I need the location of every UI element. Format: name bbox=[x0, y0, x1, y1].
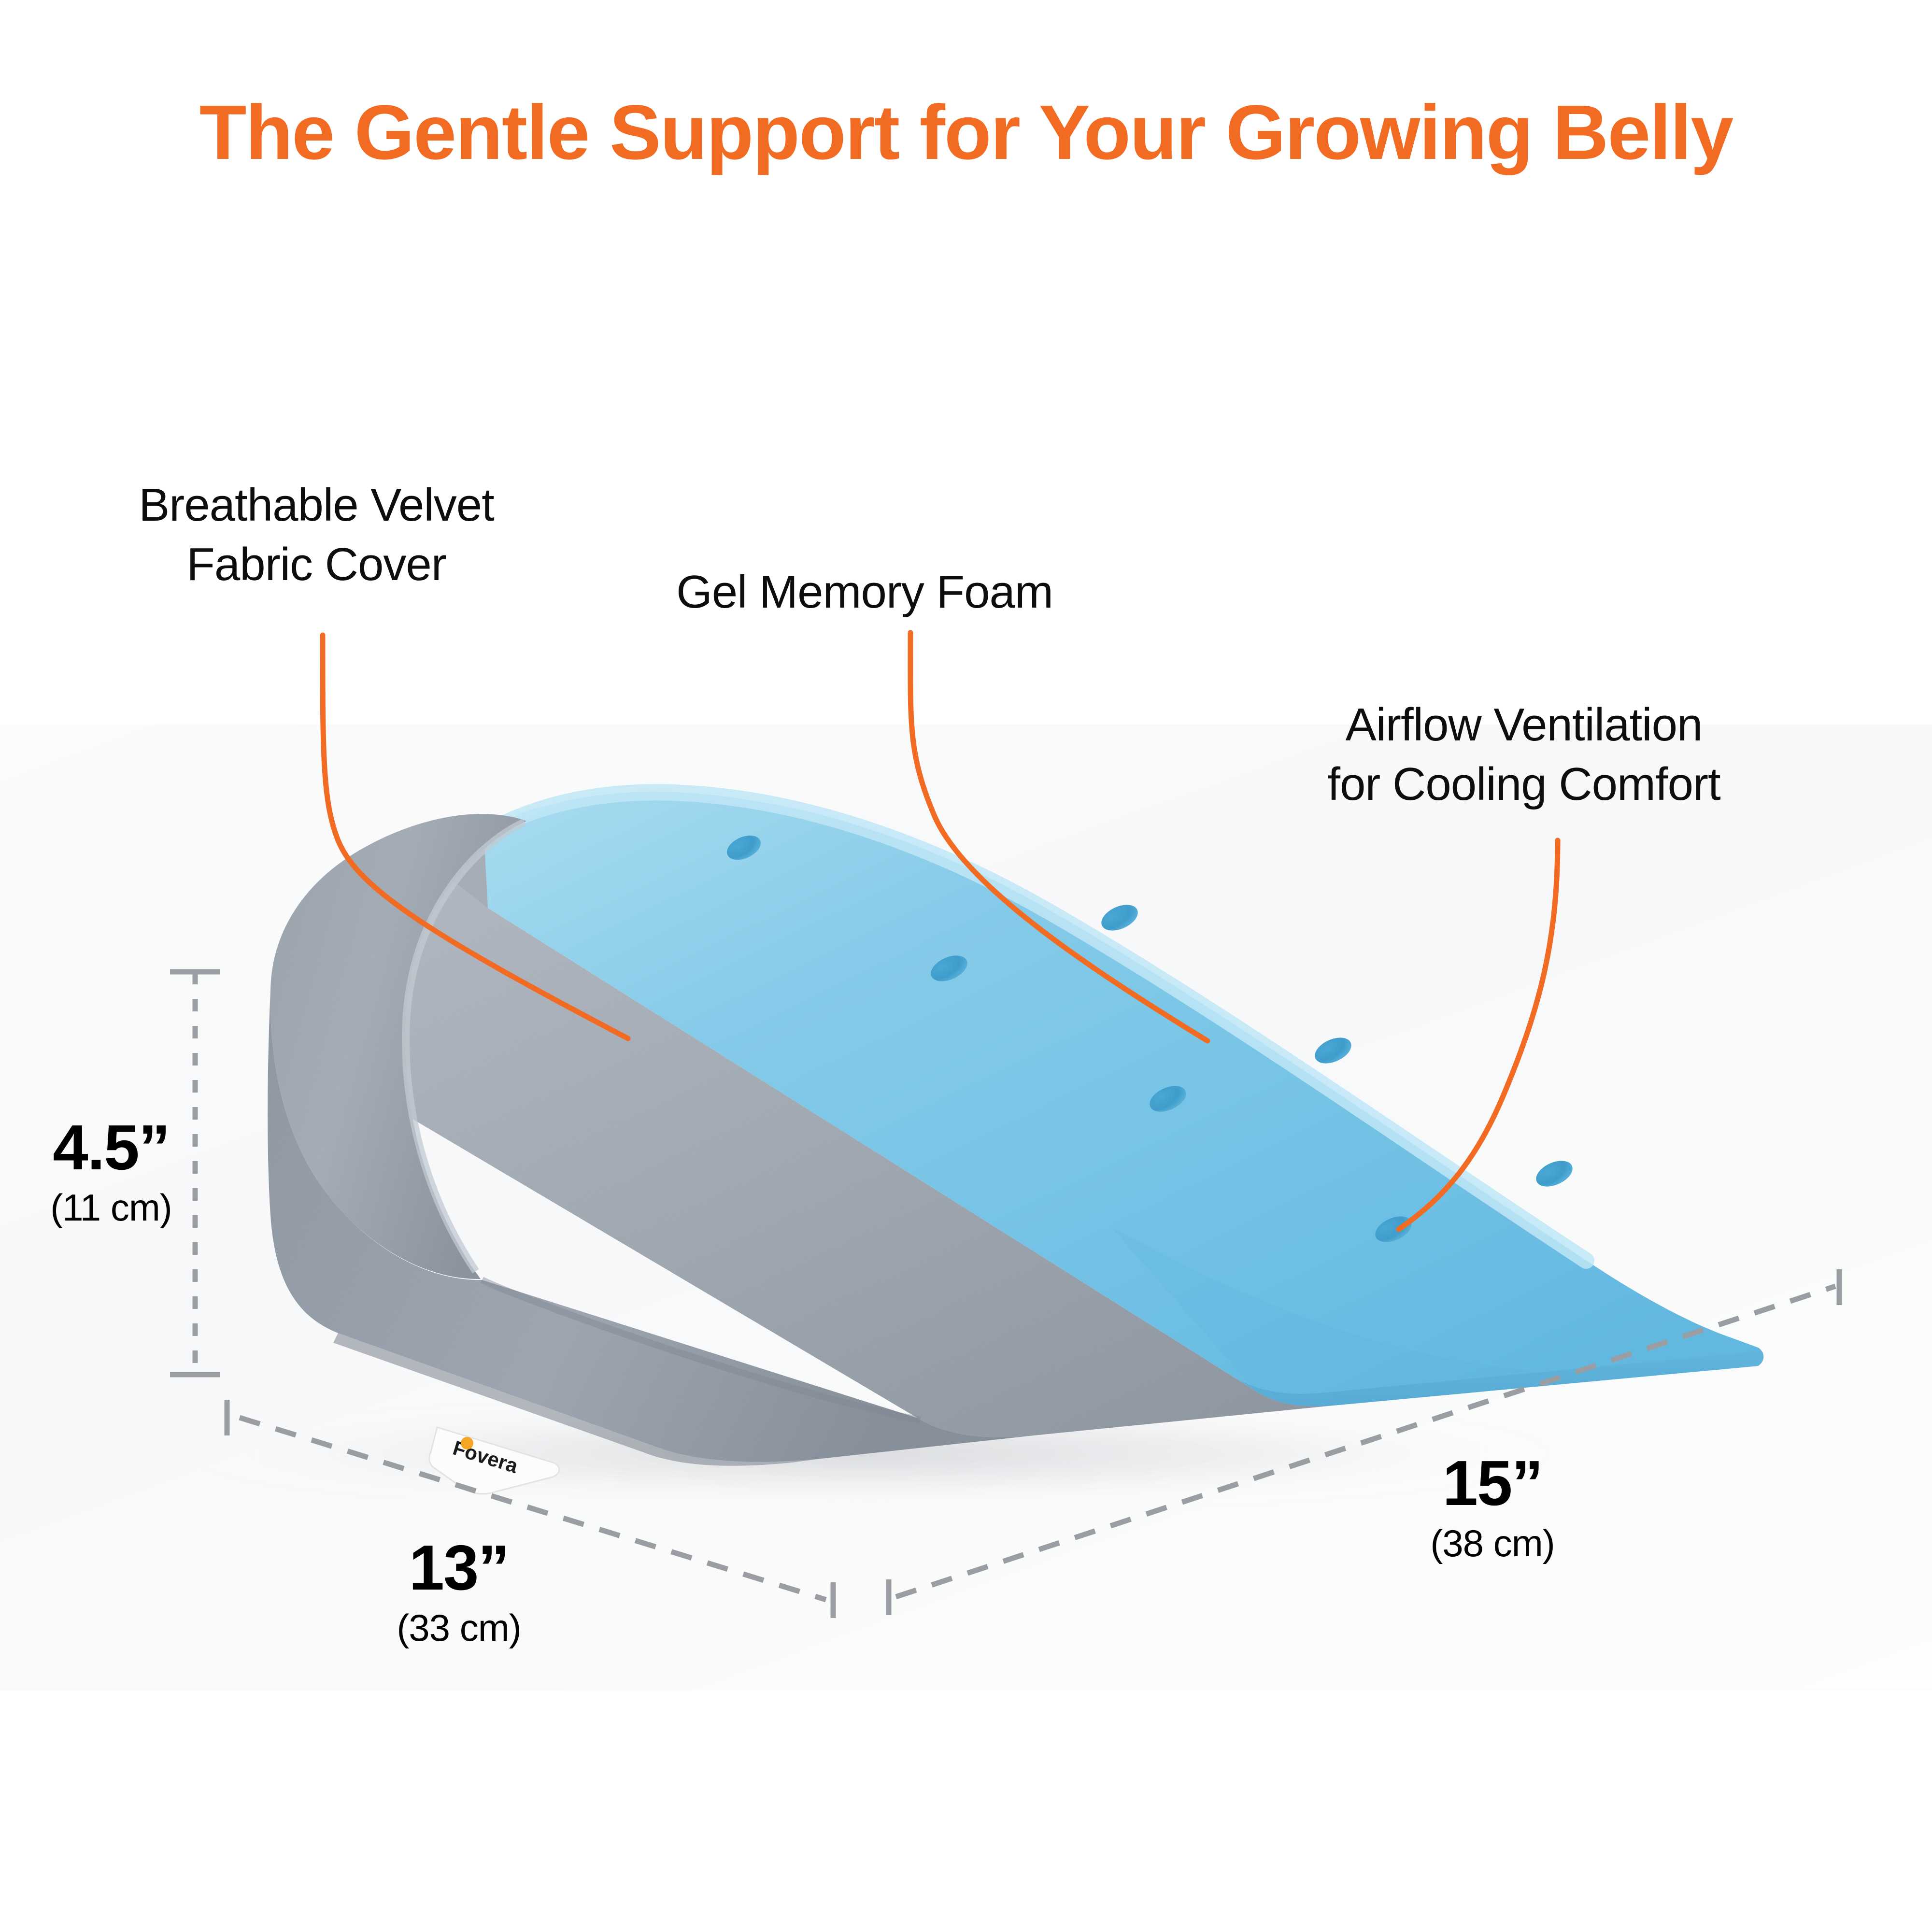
callout-airflow-line1: Airflow Ventilation bbox=[1222, 696, 1826, 755]
dimension-height-cm: (11 cm) bbox=[10, 1184, 213, 1232]
callout-velvet-line2: Fabric Cover bbox=[63, 535, 570, 595]
dimension-height-inches: 4.5” bbox=[10, 1116, 213, 1179]
callout-velvet-line1: Breathable Velvet bbox=[63, 476, 570, 535]
callout-velvet-fabric: Breathable Velvet Fabric Cover bbox=[63, 476, 570, 595]
dimension-width-cm: (38 cm) bbox=[1367, 1520, 1618, 1567]
dimension-width-inches: 15” bbox=[1367, 1451, 1618, 1515]
dimension-depth-inches: 13” bbox=[333, 1536, 584, 1600]
brand-dot-icon bbox=[461, 1437, 473, 1449]
infographic-canvas: The Gentle Support for Your Growing Bell… bbox=[0, 0, 1932, 1932]
ventilation-hole-icon bbox=[1311, 1033, 1355, 1069]
dimension-label-depth: 13” (33 cm) bbox=[333, 1536, 584, 1652]
callout-gel-line1: Gel Memory Foam bbox=[575, 563, 1154, 622]
dimension-label-width: 15” (38 cm) bbox=[1367, 1451, 1618, 1567]
ventilation-hole-icon bbox=[1532, 1156, 1577, 1192]
ventilation-hole-icon bbox=[1097, 900, 1142, 936]
dimension-label-height: 4.5” (11 cm) bbox=[10, 1116, 213, 1232]
callout-airflow-line2: for Cooling Comfort bbox=[1222, 755, 1826, 814]
product-illustration: Fovera bbox=[0, 0, 1932, 1932]
callout-gel-memory-foam: Gel Memory Foam bbox=[575, 563, 1154, 622]
dimension-depth-cm: (33 cm) bbox=[333, 1605, 584, 1652]
callout-airflow-ventilation: Airflow Ventilation for Cooling Comfort bbox=[1222, 696, 1826, 814]
